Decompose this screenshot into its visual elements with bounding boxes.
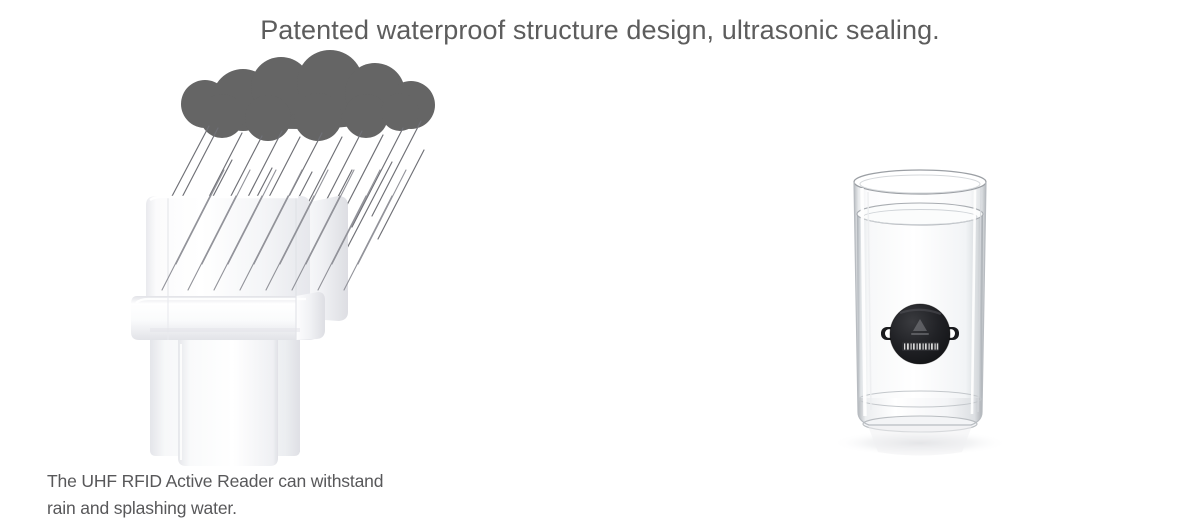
left-caption-line-1: The UHF RFID Active Reader can withstand bbox=[47, 468, 477, 495]
rain-cloud-icon bbox=[181, 50, 435, 141]
left-panel: The UHF RFID Active Reader can withstand… bbox=[0, 0, 600, 532]
illustration-canvas: Patented waterproof structure design, ul… bbox=[0, 0, 1200, 532]
left-caption: The UHF RFID Active Reader can withstand… bbox=[47, 468, 477, 522]
right-panel: Tag is IP67 waterproof rating. bbox=[600, 0, 1200, 532]
rain-test-scene bbox=[0, 0, 600, 532]
uhf-rfid-active-reader bbox=[131, 196, 348, 466]
submersion-test-scene bbox=[600, 0, 1200, 532]
left-caption-line-2: rain and splashing water. bbox=[47, 495, 477, 522]
